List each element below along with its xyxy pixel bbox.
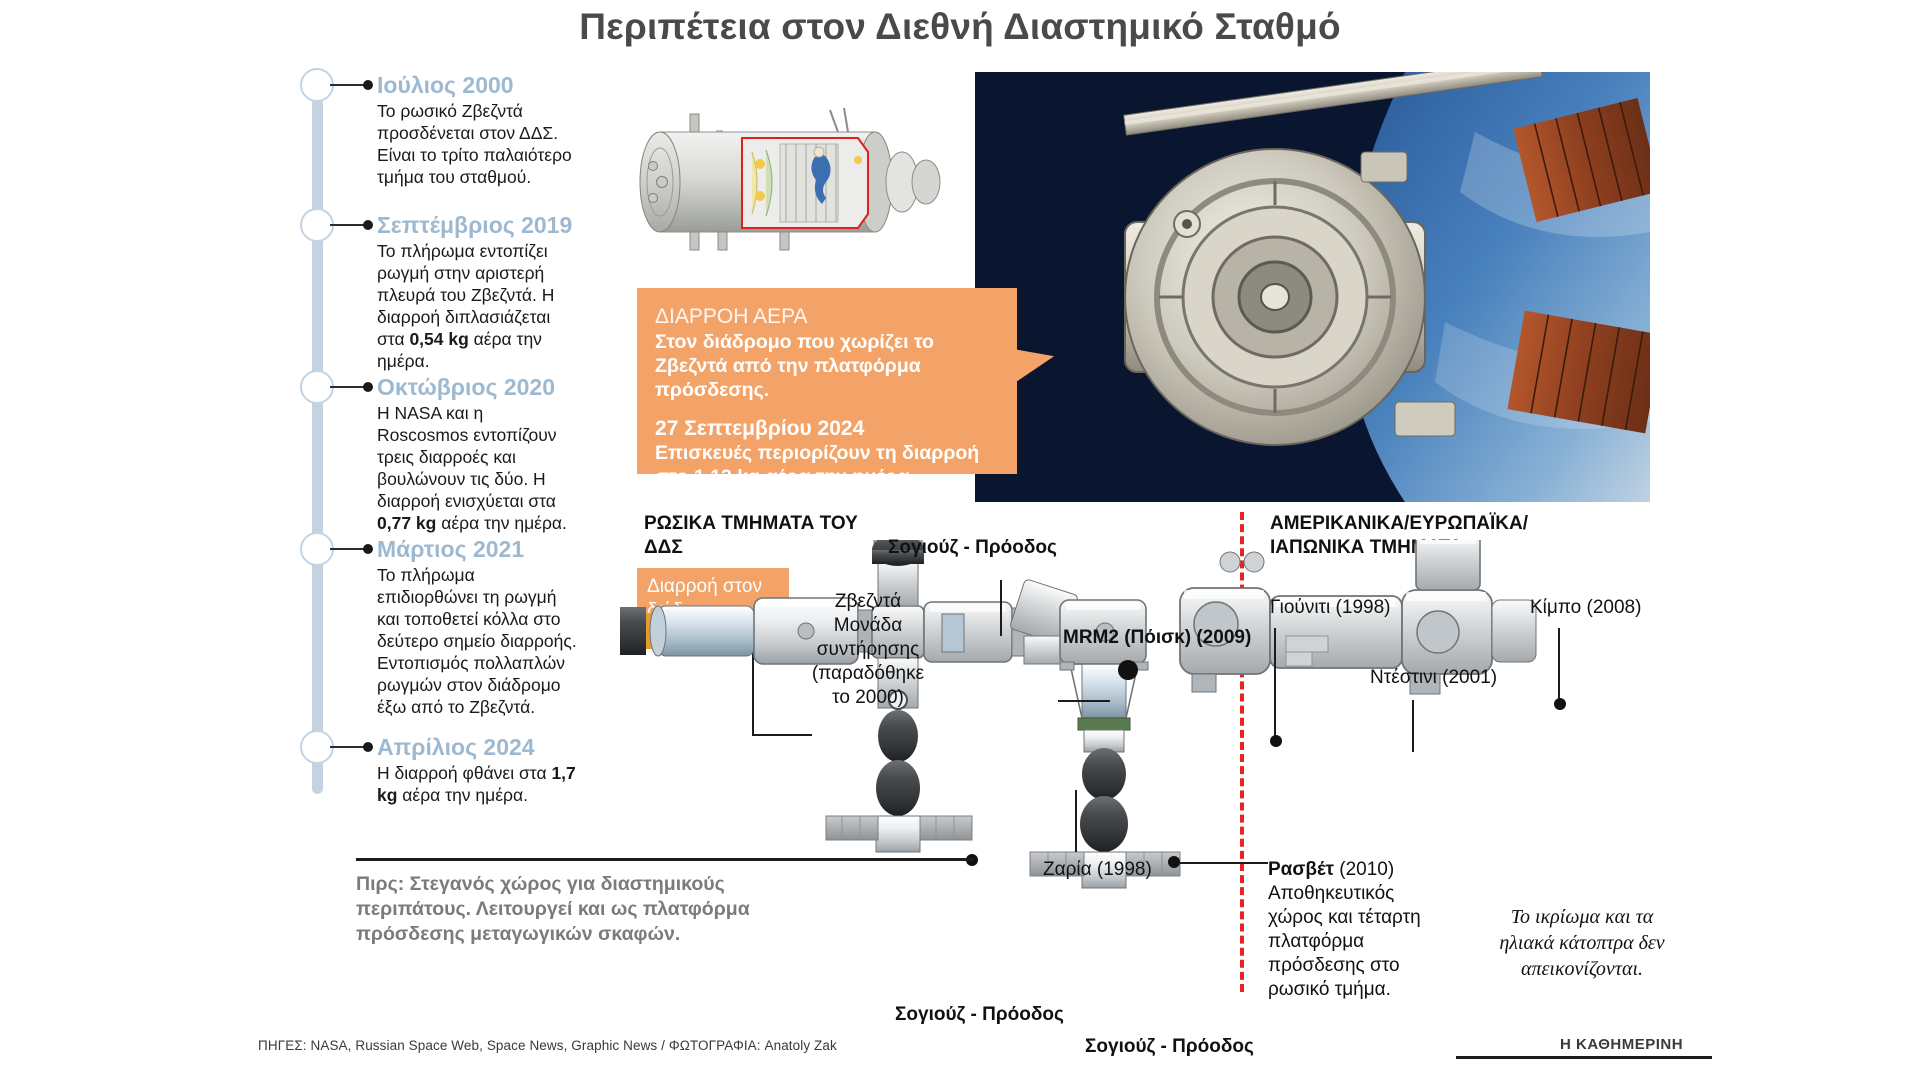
- leader-kibo: [1558, 628, 1560, 702]
- timeline-dot-icon: [363, 544, 373, 554]
- label-zvezda: Ζβεζντά Μονάδα συντήρησης (παραδόθηκε το…: [808, 590, 928, 710]
- timeline-marker-icon: [300, 730, 334, 764]
- module-progress-left: [620, 592, 754, 670]
- note-not-depicted: Το ικρίωμα και τα ηλιακά κάτοπτρα δεν απ…: [1482, 904, 1682, 982]
- leader-dot-kibo: [1554, 698, 1566, 710]
- module-rassvet: [1030, 660, 1180, 888]
- timeline-marker-icon: [300, 208, 334, 242]
- label-soyuz-bottom-mid: Σογιούζ - Πρόοδος: [1085, 1035, 1254, 1059]
- timeline-text: Η NASA και η Roscosmos εντοπίζουν τρεις …: [377, 402, 577, 534]
- infographic-page: Περιπέτεια στον Διεθνή Διαστημικό Σταθμό…: [0, 0, 1920, 1080]
- module-zarya: [924, 602, 1028, 662]
- brand-name: Η ΚΑΘΗΜΕΡΙΝΗ: [1560, 1036, 1683, 1053]
- zvezda-cutaway-illustration: [630, 92, 970, 272]
- page-title: Περιπέτεια στον Διεθνή Διαστημικό Σταθμό: [0, 6, 1920, 48]
- label-kibo: Κίμπο (2008): [1530, 596, 1641, 620]
- timeline-text: Το πλήρωμα επιδιορθώνει τη ρωγμή και τοπ…: [377, 564, 577, 718]
- timeline-connector: [330, 224, 366, 226]
- timeline-connector: [330, 746, 366, 748]
- timeline-marker-icon: [300, 532, 334, 566]
- air-leak-callout: ΔΙΑΡΡΟΗ ΑΕΡΑ Στον διάδρομο που χωρίζει τ…: [637, 288, 1017, 474]
- label-destiny: Ντέστινι (2001): [1370, 666, 1497, 690]
- timeline-marker-icon: [300, 370, 334, 404]
- label-mrm2: MRM2 (Πόισκ) (2009): [1063, 626, 1251, 650]
- leader-dot-unity: [1270, 735, 1282, 747]
- label-soyuz-top: Σογιούζ - Πρόοδος: [888, 536, 1057, 560]
- leader-destiny: [1412, 700, 1414, 752]
- module-unity: [1180, 552, 1270, 692]
- label-rassvet: Ρασβέτ (2010) Αποθηκευτικός χώρος και τέ…: [1268, 858, 1448, 1002]
- leader-soyuz-top: [1000, 580, 1002, 636]
- timeline-date: Ιούλιος 2000: [377, 72, 514, 99]
- callout-subheading: Στον διάδρομο που χωρίζει το Ζβεζντά από…: [655, 330, 999, 402]
- callout-date: 27 Σεπτεμβρίου 2024: [655, 417, 999, 441]
- leader-dot-rassvet: [1168, 856, 1180, 868]
- label-rassvet-name: Ρασβέτ: [1268, 859, 1334, 880]
- callout-heading: ΔΙΑΡΡΟΗ ΑΕΡΑ: [655, 304, 999, 330]
- timeline-rail: [312, 98, 323, 794]
- timeline-date: Σεπτέμβριος 2019: [377, 212, 572, 239]
- timeline-connector: [330, 386, 366, 388]
- timeline-connector: [330, 548, 366, 550]
- timeline-dot-icon: [363, 220, 373, 230]
- leader-zarya: [1075, 790, 1077, 852]
- timeline-date: Απρίλιος 2024: [377, 734, 535, 761]
- callout-text: Επισκευές περιορίζουν τη διαρροή στο 1,1…: [655, 441, 999, 489]
- label-unity: Γιούνιτι (1998): [1270, 596, 1390, 620]
- brand-rule: [1456, 1056, 1712, 1059]
- label-soyuz-bottom-left: Σογιούζ - Πρόοδος: [895, 1003, 1064, 1027]
- sources-line: ΠΗΓΕΣ: NASA, Russian Space Web, Space Ne…: [258, 1038, 837, 1053]
- label-zarya: Ζαρία (1998): [1043, 858, 1152, 882]
- label-rassvet-year: (2010): [1339, 859, 1394, 880]
- timeline: Ιούλιος 2000 Το ρωσικό Ζβεζντά προσδένετ…: [300, 72, 560, 792]
- timeline-text: Το πλήρωμα εντοπίζει ρωγμή στην αριστερή…: [377, 240, 577, 372]
- label-mrm2-name: MRM2 (Πόισκ) (2009): [1063, 627, 1251, 648]
- label-rassvet-desc: Αποθηκευτικός χώρος και τέταρτη πλατφόρμ…: [1268, 882, 1448, 1002]
- timeline-date: Οκτώβριος 2020: [377, 374, 555, 401]
- timeline-text: Το ρωσικό Ζβεζντά προσδένεται στον ΔΔΣ. …: [377, 100, 577, 188]
- pirs-leader-line: [356, 858, 974, 861]
- timeline-connector: [330, 84, 366, 86]
- module-pirs: [826, 691, 972, 852]
- timeline-date: Μάρτιος 2021: [377, 536, 524, 563]
- timeline-dot-icon: [363, 80, 373, 90]
- leader-unity: [1274, 628, 1276, 738]
- timeline-dot-icon: [363, 382, 373, 392]
- leader-rassvet: [1180, 862, 1268, 864]
- timeline-dot-icon: [363, 742, 373, 752]
- timeline-marker-icon: [300, 68, 334, 102]
- timeline-text: Η διαρροή φθάνει στα 1,7 kg αέρα την ημέ…: [377, 762, 577, 806]
- iss-docking-photo: [975, 72, 1650, 502]
- pirs-caption: Πιρς: Στεγανός χώρος για διαστημικούς πε…: [356, 872, 826, 947]
- leader-mrm2: [1058, 700, 1110, 702]
